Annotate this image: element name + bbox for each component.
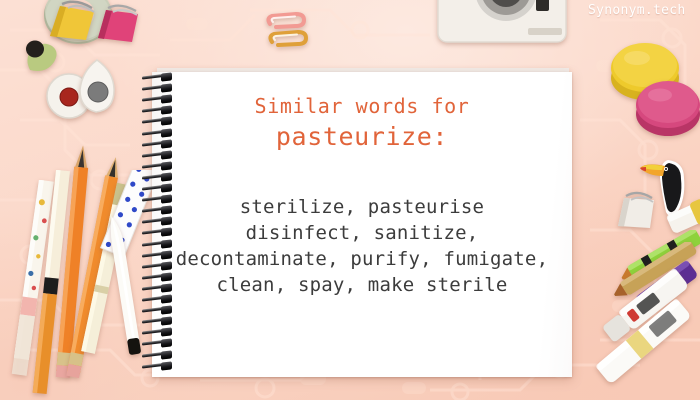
spiral-ring [142,107,176,114]
spiral-ring [142,363,176,370]
spiral-ring [142,274,176,281]
synonym-line: decontaminate, purify, fumigate, [152,246,572,272]
spiral-ring [142,74,176,81]
spiral-ring [142,174,176,181]
binder-clip-white [608,186,664,232]
synonym-line: sterilize, pasteurise [152,194,572,220]
spiral-ring [142,185,176,192]
marker-white [586,288,700,392]
page-title-prefix: Similar words for [152,94,572,118]
spiral-ring [142,85,176,92]
macaron-pink [630,74,700,140]
spiral-ring [142,96,176,103]
site-watermark: Synonym.tech [588,3,686,18]
spiral-ring [142,118,176,125]
spiral-ring [142,241,176,248]
spiral-ring [142,207,176,214]
notepad: Similar words for pasteurize: sterilize,… [152,72,572,377]
spiral-ring [142,130,176,137]
paper-clip-orange [266,28,310,50]
spiral-ring [142,263,176,270]
spiral-ring [142,218,176,225]
spiral-ring [142,229,176,236]
eraser-green [20,36,62,76]
synonym-list: sterilize, pasteurise disinfect, sanitiz… [152,194,572,298]
spiral-ring [142,163,176,170]
spiral-ring [142,307,176,314]
spiral-ring [142,340,176,347]
spiral-ring [142,318,176,325]
synonym-line: disinfect, sanitize, [152,220,572,246]
page-title-headword: pasteurize: [152,122,572,151]
spiral-ring [142,196,176,203]
synonym-line: clean, spay, make sterile [152,272,572,298]
notepad-content: Similar words for pasteurize: sterilize,… [152,72,572,377]
spiral-binding [142,74,182,374]
binder-clip-pink [92,2,148,46]
spiral-ring [142,152,176,159]
spiral-ring [142,252,176,259]
spiral-ring [142,141,176,148]
eraser-white-gray [74,58,120,116]
spiral-ring [142,296,176,303]
camera-white [432,0,572,52]
spiral-ring [142,285,176,292]
screenshot-root: Similar words for pasteurize: sterilize,… [0,0,700,400]
spiral-ring [142,352,176,359]
spiral-ring [142,329,176,336]
